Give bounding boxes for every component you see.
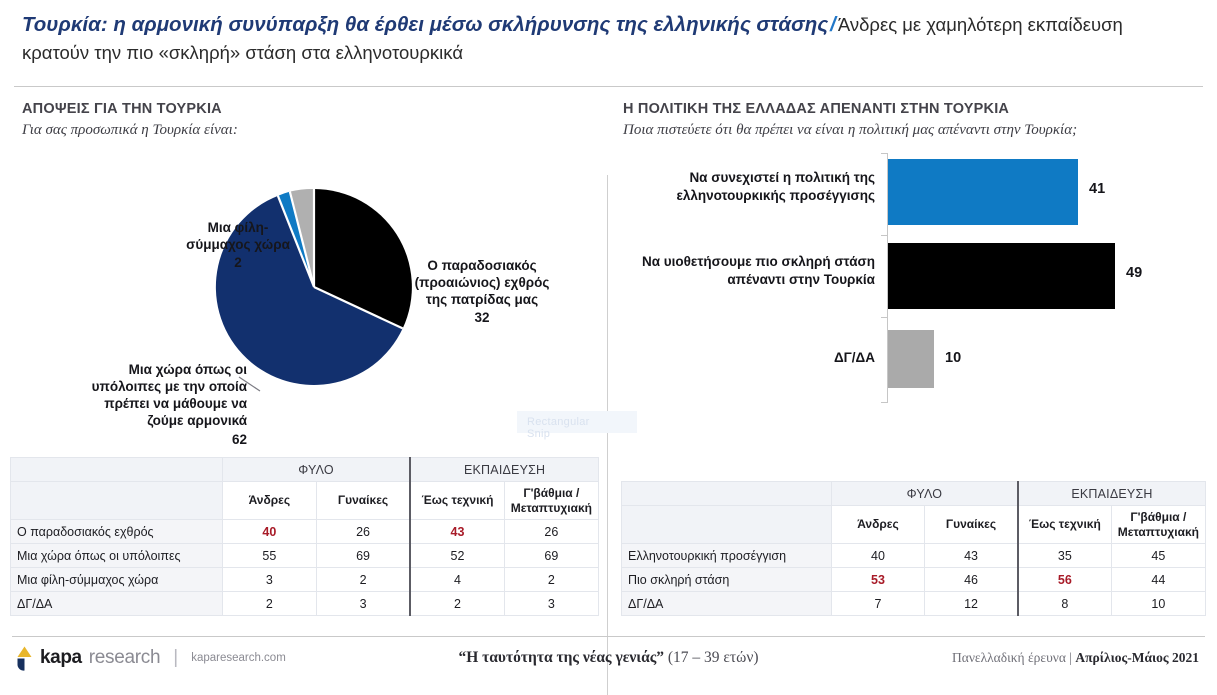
bar-row-dk-na: ΔΓ/ΔΑ 10: [623, 330, 1201, 388]
cell-higher: 69: [504, 544, 598, 568]
table-row: Ελληνοτουρκική προσέγγιση 40 43 35 45: [622, 544, 1206, 568]
cell-higher: 26: [504, 520, 598, 544]
snip-watermark-label: Rectangular Snip: [527, 416, 593, 440]
left-panel: ΑΠΟΨΕΙΣ ΓΙΑ ΤΗΝ ΤΟΥΡΚΙΑ Για σας προσωπικ…: [0, 87, 609, 620]
subheader-higher: Γ'βάθμια / Μεταπτυχιακή: [504, 482, 598, 520]
cell-men: 7: [831, 592, 924, 616]
pie-label-enemy-value: 32: [392, 309, 572, 326]
row-label: Ελληνοτουρκική προσέγγιση: [622, 544, 832, 568]
table-row: Πιο σκληρή στάση 53 46 56 44: [622, 568, 1206, 592]
cell-higher: 3: [504, 592, 598, 616]
axis-tick: [881, 317, 888, 318]
table-row: ΔΓ/ΔΑ 7 12 8 10: [622, 592, 1206, 616]
group-header-gender: ΦΥΛΟ: [831, 482, 1018, 506]
pie-label-enemy: Ο παραδοσιακός (προαιώνιος) εχθρός της π…: [392, 257, 572, 327]
bar-value-harder-stance: 49: [1126, 265, 1142, 281]
cell-women: 46: [925, 568, 1018, 592]
headline: Τουρκία: η αρμονική συνύπαρξη θα έρθει μ…: [22, 10, 1195, 67]
row-label: Ο παραδοσιακός εχθρός: [11, 520, 223, 544]
row-label: Μια χώρα όπως οι υπόλοιπες: [11, 544, 223, 568]
cell-men: 53: [831, 568, 924, 592]
subheader-men: Άνδρες: [222, 482, 316, 520]
table-row: Μια φίλη-σύμμαχος χώρα 3 2 4 2: [11, 568, 599, 592]
cell-men: 55: [222, 544, 316, 568]
table-group-header-row: ΦΥΛΟ ΕΚΠΑΙΔΕΥΣΗ: [622, 482, 1206, 506]
footer-survey-scope: Πανελλαδική έρευνα |: [952, 650, 1075, 665]
table-group-header-row: ΦΥΛΟ ΕΚΠΑΙΔΕΥΣΗ: [11, 458, 599, 482]
footer-age-range: (17 – 39 ετών): [664, 649, 759, 666]
page-header: Τουρκία: η αρμονική συνύπαρξη θα έρθει μ…: [0, 0, 1217, 78]
right-panel-title: Η ΠΟΛΙΤΙΚΗ ΤΗΣ ΕΛΛΑΔΑΣ ΑΠΕΝΑΝΤΙ ΣΤΗΝ ΤΟΥ…: [623, 101, 1201, 117]
right-crosstab: ΦΥΛΟ ΕΚΠΑΙΔΕΥΣΗ Άνδρες Γυναίκες Έως τεχν…: [621, 481, 1206, 616]
cell-higher: 10: [1111, 592, 1205, 616]
group-header-blank: [11, 458, 223, 482]
pie-label-enemy-text: Ο παραδοσιακός (προαιώνιος) εχθρός της π…: [415, 258, 550, 307]
cell-women: 26: [316, 520, 410, 544]
cell-women: 3: [316, 592, 410, 616]
table-row: ΔΓ/ΔΑ 2 3 2 3: [11, 592, 599, 616]
bar-label: Να υιοθετήσουμε πιο σκληρή στάση απέναντ…: [623, 253, 875, 288]
cell-women: 43: [925, 544, 1018, 568]
row-label: ΔΓ/ΔΑ: [622, 592, 832, 616]
cell-tech: 4: [410, 568, 504, 592]
cell-men: 2: [222, 592, 316, 616]
pie-label-normal: Μια χώρα όπως οι υπόλοιπες με την οποία …: [32, 361, 247, 448]
table-row: Μια χώρα όπως οι υπόλοιπες 55 69 52 69: [11, 544, 599, 568]
cell-tech: 56: [1018, 568, 1111, 592]
bar-rect-dk-na: [888, 330, 934, 388]
left-crosstab-wrapper: ΦΥΛΟ ΕΚΠΑΙΔΕΥΣΗ Άνδρες Γυναίκες Έως τεχν…: [10, 457, 599, 616]
pie-label-friend-text: Μια φίλη- σύμμαχος χώρα: [186, 220, 290, 252]
row-label: ΔΓ/ΔΑ: [11, 592, 223, 616]
left-crosstab-body: Ο παραδοσιακός εχθρός 40 26 43 26 Μια χώ…: [11, 520, 599, 616]
pie-chart-area: Rectangular Snip Μια φίλη- σύμμαχος χώρα: [22, 139, 593, 459]
cell-higher: 44: [1111, 568, 1205, 592]
cell-men: 40: [831, 544, 924, 568]
table-row: Ο παραδοσιακός εχθρός 40 26 43 26: [11, 520, 599, 544]
subheader-tech: Έως τεχνική: [410, 482, 504, 520]
subheader-men: Άνδρες: [831, 506, 924, 544]
footer-survey-date: Απρίλιος-Μάιος 2021: [1075, 650, 1199, 665]
bar-label: ΔΓ/ΔΑ: [623, 349, 875, 367]
group-header-gender: ΦΥΛΟ: [222, 458, 410, 482]
cell-higher: 45: [1111, 544, 1205, 568]
cell-tech: 52: [410, 544, 504, 568]
bar-chart-area: Να συνεχιστεί η πολιτική της ελληνοτουρκ…: [623, 145, 1201, 465]
pie-label-normal-value: 62: [32, 431, 247, 448]
cell-women: 2: [316, 568, 410, 592]
headline-lead: Τουρκία: η αρμονική συνύπαρξη θα έρθει μ…: [22, 13, 828, 36]
subheader-blank: [11, 482, 223, 520]
subheader-women: Γυναίκες: [316, 482, 410, 520]
cell-tech: 35: [1018, 544, 1111, 568]
cell-higher: 2: [504, 568, 598, 592]
bar-label: Να συνεχιστεί η πολιτική της ελληνοτουρκ…: [623, 169, 875, 204]
headline-separator: /: [828, 13, 838, 36]
pie-label-friend: Μια φίλη- σύμμαχος χώρα 2: [168, 219, 308, 271]
right-panel: Η ΠΟΛΙΤΙΚΗ ΤΗΣ ΕΛΛΑΔΑΣ ΑΠΕΝΑΝΤΙ ΣΤΗΝ ΤΟΥ…: [609, 87, 1217, 620]
axis-tick: [881, 402, 888, 403]
bar-value-continue-policy: 41: [1089, 181, 1105, 197]
cell-tech: 8: [1018, 592, 1111, 616]
table-subheader-row: Άνδρες Γυναίκες Έως τεχνική Γ'βάθμια / Μ…: [11, 482, 599, 520]
subheader-tech: Έως τεχνική: [1018, 506, 1111, 544]
group-header-education: ΕΚΠΑΙΔΕΥΣΗ: [1018, 482, 1206, 506]
pie-label-friend-value: 2: [168, 254, 308, 271]
axis-tick: [881, 235, 888, 236]
footer-survey-meta: Πανελλαδική έρευνα | Απρίλιος-Μάιος 2021: [952, 650, 1199, 666]
bar-row-continue-policy: Να συνεχιστεί η πολιτική της ελληνοτουρκ…: [623, 159, 1201, 225]
cell-tech: 43: [410, 520, 504, 544]
row-label: Μια φίλη-σύμμαχος χώρα: [11, 568, 223, 592]
footer-quote: “Η ταυτότητα της νέας γενιάς”: [458, 649, 664, 666]
axis-tick: [881, 153, 888, 154]
right-crosstab-wrapper: ΦΥΛΟ ΕΚΠΑΙΔΕΥΣΗ Άνδρες Γυναίκες Έως τεχν…: [621, 481, 1206, 616]
bar-rect-harder-stance: [888, 243, 1115, 309]
bar-value-dk-na: 10: [945, 350, 961, 366]
group-header-blank: [622, 482, 832, 506]
table-subheader-row: Άνδρες Γυναίκες Έως τεχνική Γ'βάθμια / Μ…: [622, 506, 1206, 544]
group-header-education: ΕΚΠΑΙΔΕΥΣΗ: [410, 458, 598, 482]
cell-tech: 2: [410, 592, 504, 616]
bar-rect-continue-policy: [888, 159, 1078, 225]
left-crosstab: ΦΥΛΟ ΕΚΠΑΙΔΕΥΣΗ Άνδρες Γυναίκες Έως τεχν…: [10, 457, 599, 616]
left-panel-title: ΑΠΟΨΕΙΣ ΓΙΑ ΤΗΝ ΤΟΥΡΚΙΑ: [22, 101, 593, 117]
panels-container: ΑΠΟΨΕΙΣ ΓΙΑ ΤΗΝ ΤΟΥΡΚΙΑ Για σας προσωπικ…: [0, 87, 1217, 620]
bar-row-harder-stance: Να υιοθετήσουμε πιο σκληρή στάση απέναντ…: [623, 243, 1201, 309]
cell-men: 3: [222, 568, 316, 592]
cell-men: 40: [222, 520, 316, 544]
page-footer: kaparesearch | kaparesearch.com “Η ταυτό…: [0, 637, 1217, 679]
subheader-women: Γυναίκες: [925, 506, 1018, 544]
right-crosstab-body: Ελληνοτουρκική προσέγγιση 40 43 35 45 Πι…: [622, 544, 1206, 616]
left-panel-subtitle: Για σας προσωπικά η Τουρκία είναι:: [22, 122, 593, 139]
cell-women: 12: [925, 592, 1018, 616]
subheader-higher: Γ'βάθμια / Μεταπτυχιακή: [1111, 506, 1205, 544]
row-label: Πιο σκληρή στάση: [622, 568, 832, 592]
pie-label-normal-text: Μια χώρα όπως οι υπόλοιπες με την οποία …: [92, 362, 247, 428]
subheader-blank: [622, 506, 832, 544]
cell-women: 69: [316, 544, 410, 568]
right-panel-subtitle: Ποια πιστεύετε ότι θα πρέπει να είναι η …: [623, 122, 1201, 139]
